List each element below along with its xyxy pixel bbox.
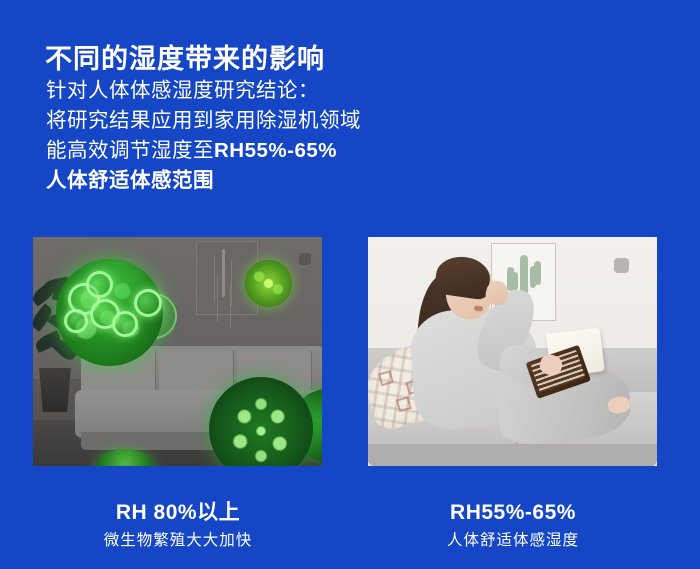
humidity-comparison-poster: 不同的湿度带来的影响 针对人体体感湿度研究结论： 将研究结果应用到家用除湿机领域…: [0, 0, 700, 569]
microbe-cell: [134, 289, 162, 317]
lips: [474, 305, 484, 311]
wall-knob-dark: [299, 253, 311, 265]
caption-subtitle: 人体舒适体感湿度: [363, 529, 663, 553]
hair-top: [433, 253, 492, 300]
humidity-range-highlight: RH55%-65%: [214, 139, 337, 162]
cushion-motif: [396, 396, 412, 412]
microbe-sphere-large: [56, 259, 163, 366]
woman-reading: [412, 251, 627, 451]
microbe-cell: [64, 309, 88, 333]
photo-comfort-humidity: [368, 237, 657, 466]
caption-title: RH 80%以上: [28, 500, 328, 526]
caption-high-humidity: RH 80%以上 微生物繁殖大大加快: [28, 500, 328, 553]
intro-line-4: 人体舒适体感范围: [46, 166, 361, 196]
intro-line-2: 将研究结果应用到家用除湿机领域: [46, 106, 361, 136]
dark-room-scene: [33, 237, 322, 466]
intro-paragraph: 针对人体体感湿度研究结论： 将研究结果应用到家用除湿机领域 能高效调节湿度至RH…: [46, 76, 361, 196]
intro-line-3: 能高效调节湿度至RH55%-65%: [46, 136, 361, 166]
microbe-cell: [112, 311, 138, 337]
caption-comfort-humidity: RH55%-65% 人体舒适体感湿度: [363, 500, 663, 553]
bright-room-scene: [368, 237, 657, 466]
caption-subtitle: 微生物繁殖大大加快: [28, 529, 328, 553]
cushion-motif: [378, 370, 394, 386]
photo-high-humidity: [33, 237, 322, 466]
sofa-cushion: [159, 350, 234, 394]
intro-line-1: 针对人体体感湿度研究结论：: [46, 76, 361, 106]
intro-line-3-prefix: 能高效调节湿度至: [46, 139, 214, 162]
microbe-cell: [86, 271, 113, 298]
microbe-sphere: [245, 260, 292, 307]
plant-pot: [37, 368, 73, 412]
page-title: 不同的湿度带来的影响: [45, 37, 325, 76]
caption-title: RH55%-65%: [363, 500, 663, 526]
